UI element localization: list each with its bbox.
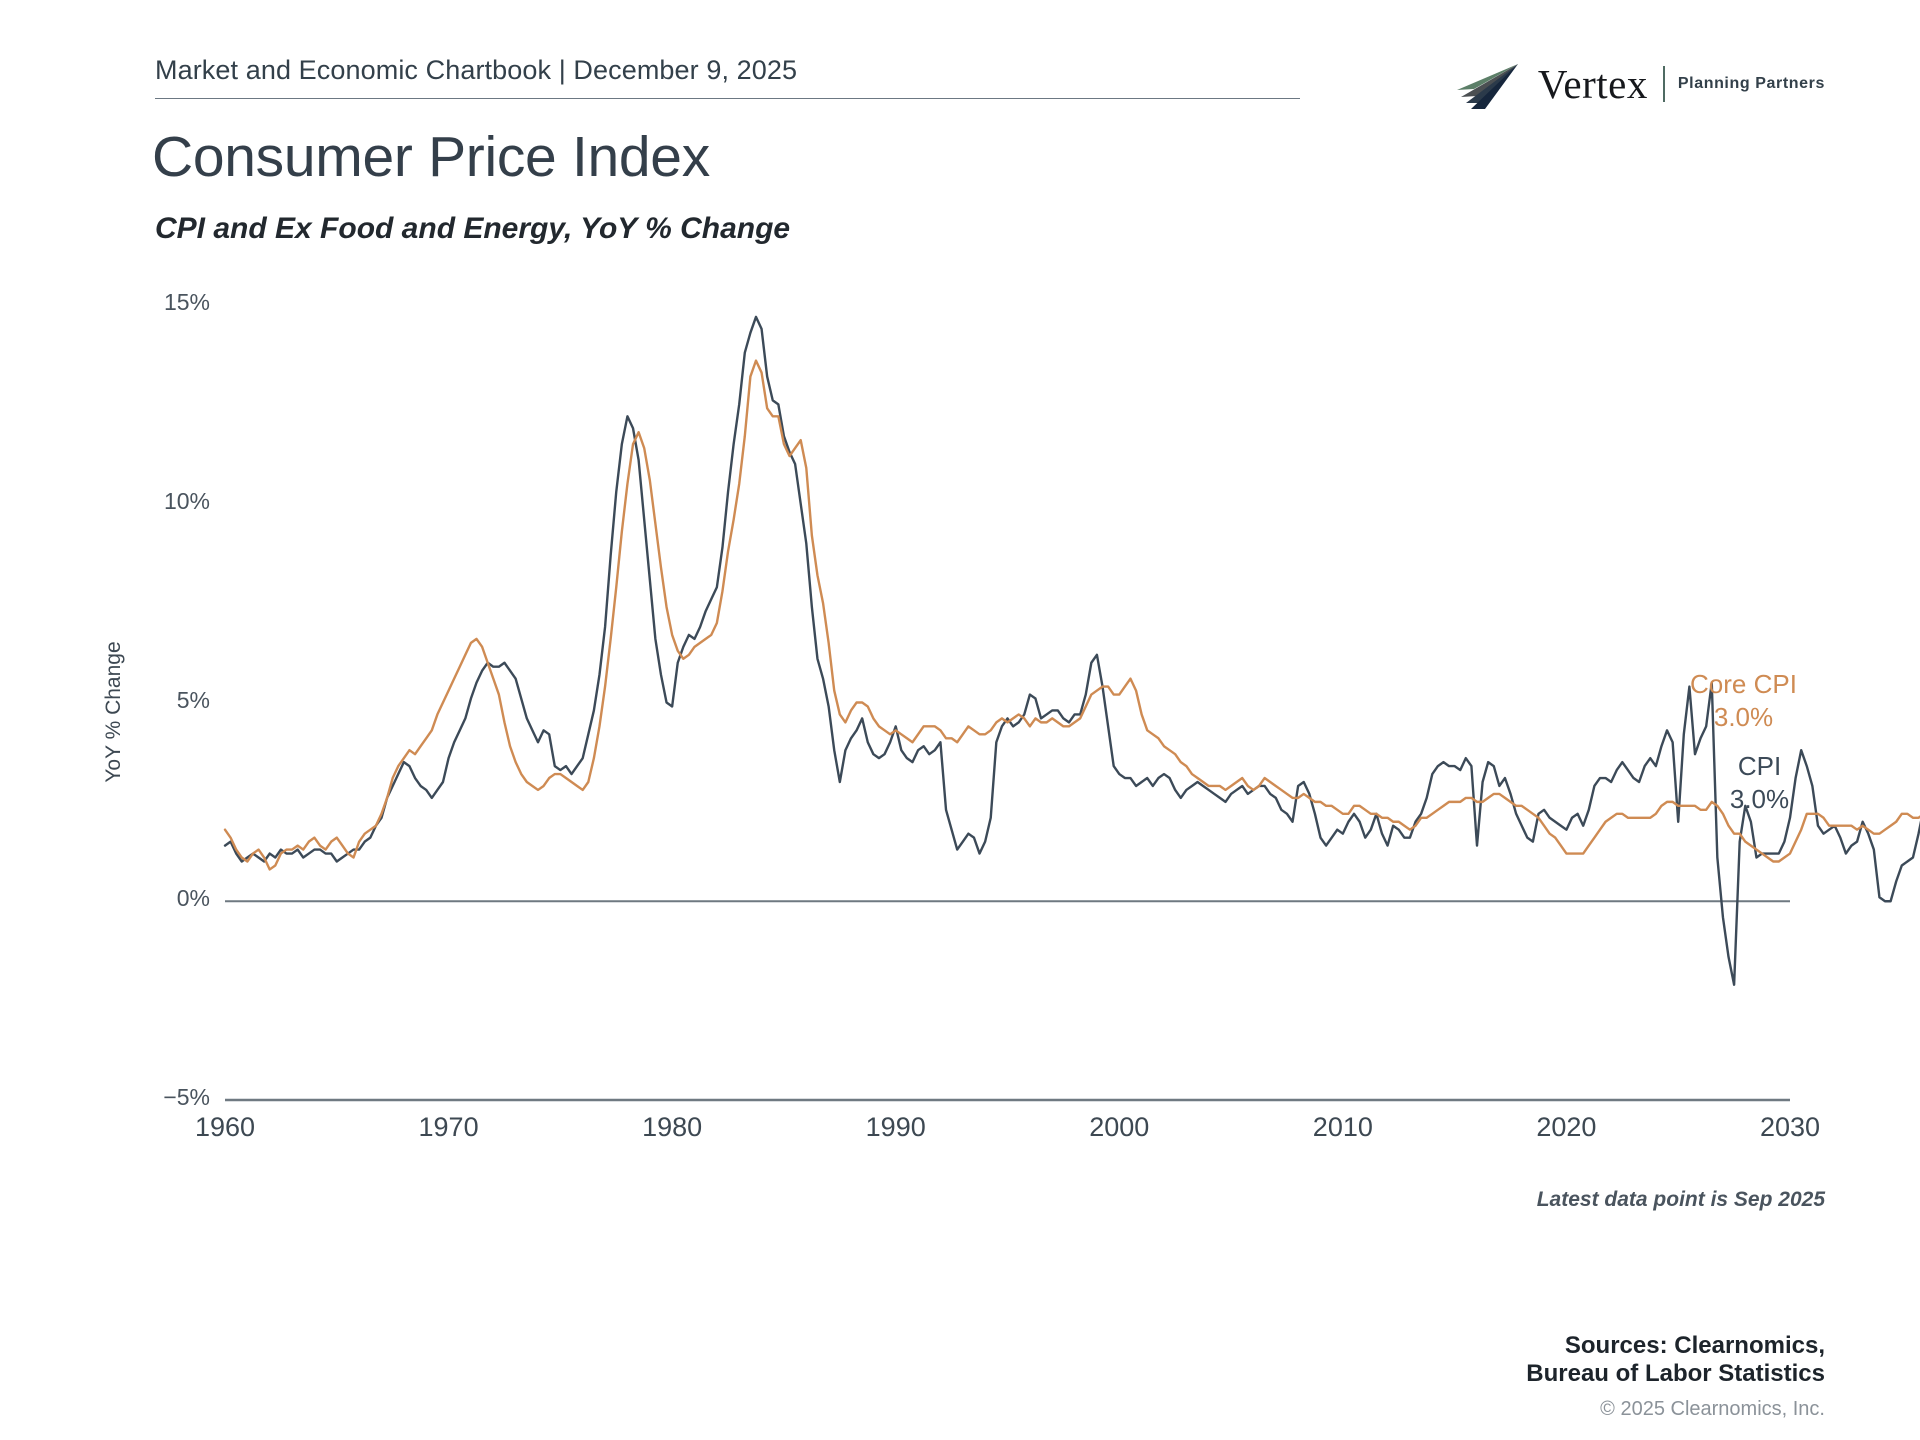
y-tick-0: 0% xyxy=(60,885,210,912)
series-label-core-cpi: Core CPI 3.0% xyxy=(1656,668,1831,735)
core-cpi-name: Core CPI xyxy=(1656,668,1831,701)
cpi-value: 3.0% xyxy=(1672,783,1847,816)
series-line-cpi xyxy=(225,317,1920,985)
x-tick-1990: 1990 xyxy=(826,1112,966,1143)
core-cpi-value: 3.0% xyxy=(1656,701,1831,734)
sources-block: Sources: Clearnomics, Bureau of Labor St… xyxy=(1526,1332,1825,1388)
y-tick-neg5: −5% xyxy=(60,1084,210,1111)
x-tick-2000: 2000 xyxy=(1049,1112,1189,1143)
x-tick-2010: 2010 xyxy=(1273,1112,1413,1143)
x-tick-1980: 1980 xyxy=(602,1112,742,1143)
cpi-name: CPI xyxy=(1672,750,1847,783)
y-tick-15: 15% xyxy=(60,289,210,316)
x-tick-2030: 2030 xyxy=(1720,1112,1860,1143)
series-label-cpi: CPI 3.0% xyxy=(1672,750,1847,817)
series-layer xyxy=(225,317,1920,985)
latest-data-note: Latest data point is Sep 2025 xyxy=(1537,1188,1825,1212)
sources-line-2: Bureau of Labor Statistics xyxy=(1526,1360,1825,1388)
sources-line-1: Sources: Clearnomics, xyxy=(1526,1332,1825,1360)
x-tick-1970: 1970 xyxy=(379,1112,519,1143)
x-tick-2020: 2020 xyxy=(1496,1112,1636,1143)
axis-layer xyxy=(225,901,1790,1100)
cpi-line-chart xyxy=(0,0,1920,1440)
y-tick-10: 10% xyxy=(60,488,210,515)
chart-area: YoY % Change −5%0%5%10%15% 1960197019801… xyxy=(0,0,1920,1440)
series-line-core-cpi xyxy=(225,361,1920,870)
x-tick-1960: 1960 xyxy=(155,1112,295,1143)
copyright-notice: © 2025 Clearnomics, Inc. xyxy=(1600,1398,1825,1421)
y-tick-5: 5% xyxy=(60,687,210,714)
